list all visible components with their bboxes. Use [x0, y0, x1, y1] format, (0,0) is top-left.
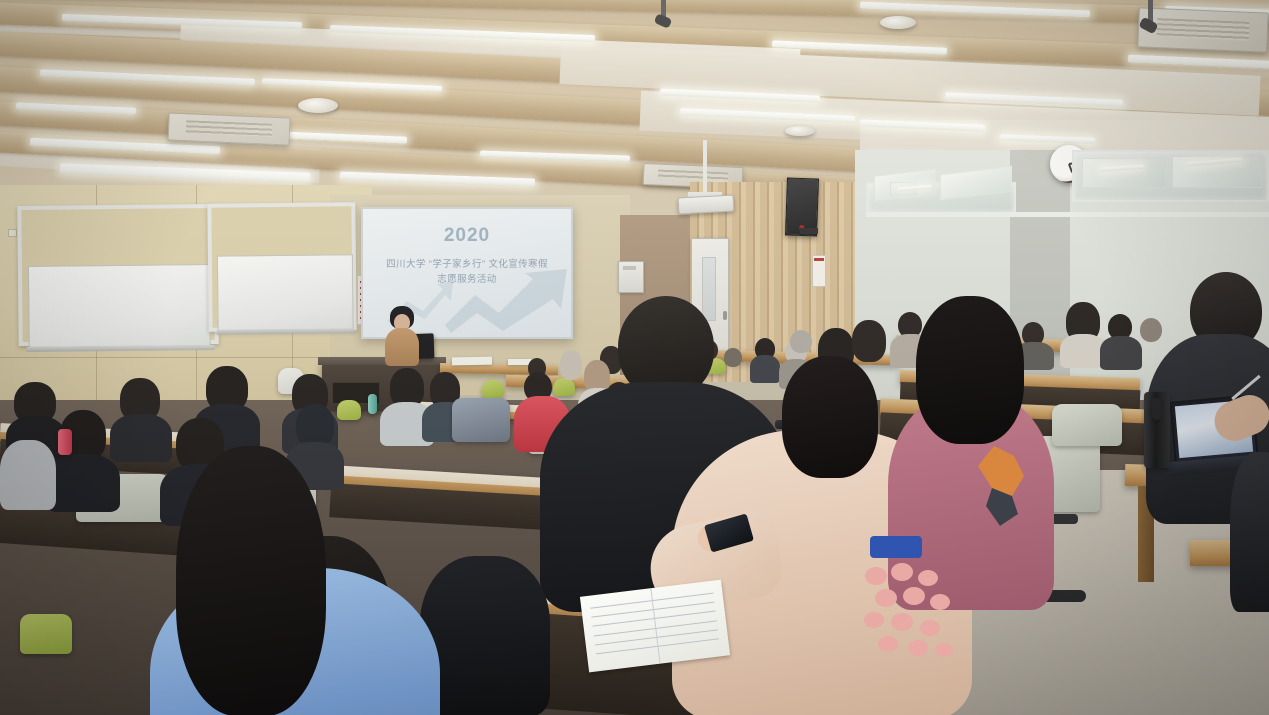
wall-notice-poster [812, 255, 826, 287]
presenter [381, 306, 423, 362]
window-sill [866, 212, 1269, 217]
slide-title-line2: 志愿服务活动 [363, 271, 571, 285]
chair[interactable] [20, 614, 72, 654]
chair[interactable] [1052, 404, 1122, 446]
presenter-torso [385, 328, 419, 366]
projector-mount [703, 140, 707, 198]
projector-icon [678, 195, 735, 215]
whiteboard-right[interactable] [207, 202, 356, 332]
thermos-teal [368, 394, 377, 414]
backpack [452, 398, 510, 442]
door-handle-icon[interactable] [723, 311, 727, 320]
slide-title-line1: 四川大学 “学子家乡行” 文化宣传寒假 [363, 256, 571, 270]
pig-print-graphic [852, 536, 962, 662]
thermos-dark [1152, 398, 1161, 420]
speaker-bracket [800, 228, 818, 234]
wall-socket-icon [8, 229, 17, 237]
hair [916, 296, 1024, 444]
chair[interactable] [553, 378, 575, 396]
classroom-photo: 2020 四川大学 “学子家乡行” 文化宣传寒假 志愿服务活动 [0, 0, 1269, 715]
whiteboard-left[interactable] [17, 204, 218, 346]
thermos-pink [58, 429, 72, 455]
window-pane [1082, 158, 1166, 188]
smoke-detector-icon [298, 98, 338, 113]
hair-ponytail [176, 446, 326, 715]
chair[interactable] [337, 400, 361, 420]
air-conditioner-icon [1137, 7, 1269, 52]
smoke-detector-icon [785, 126, 815, 136]
chair[interactable] [482, 380, 504, 398]
door-glass-panel [702, 257, 716, 321]
fox-print-graphic [972, 444, 1030, 528]
wall-control-box[interactable] [618, 261, 644, 293]
air-conditioner-icon [167, 112, 290, 145]
hair [782, 356, 878, 478]
smoke-detector-icon [880, 16, 916, 29]
slide-year: 2020 [363, 225, 571, 247]
papers-stack [452, 357, 492, 366]
